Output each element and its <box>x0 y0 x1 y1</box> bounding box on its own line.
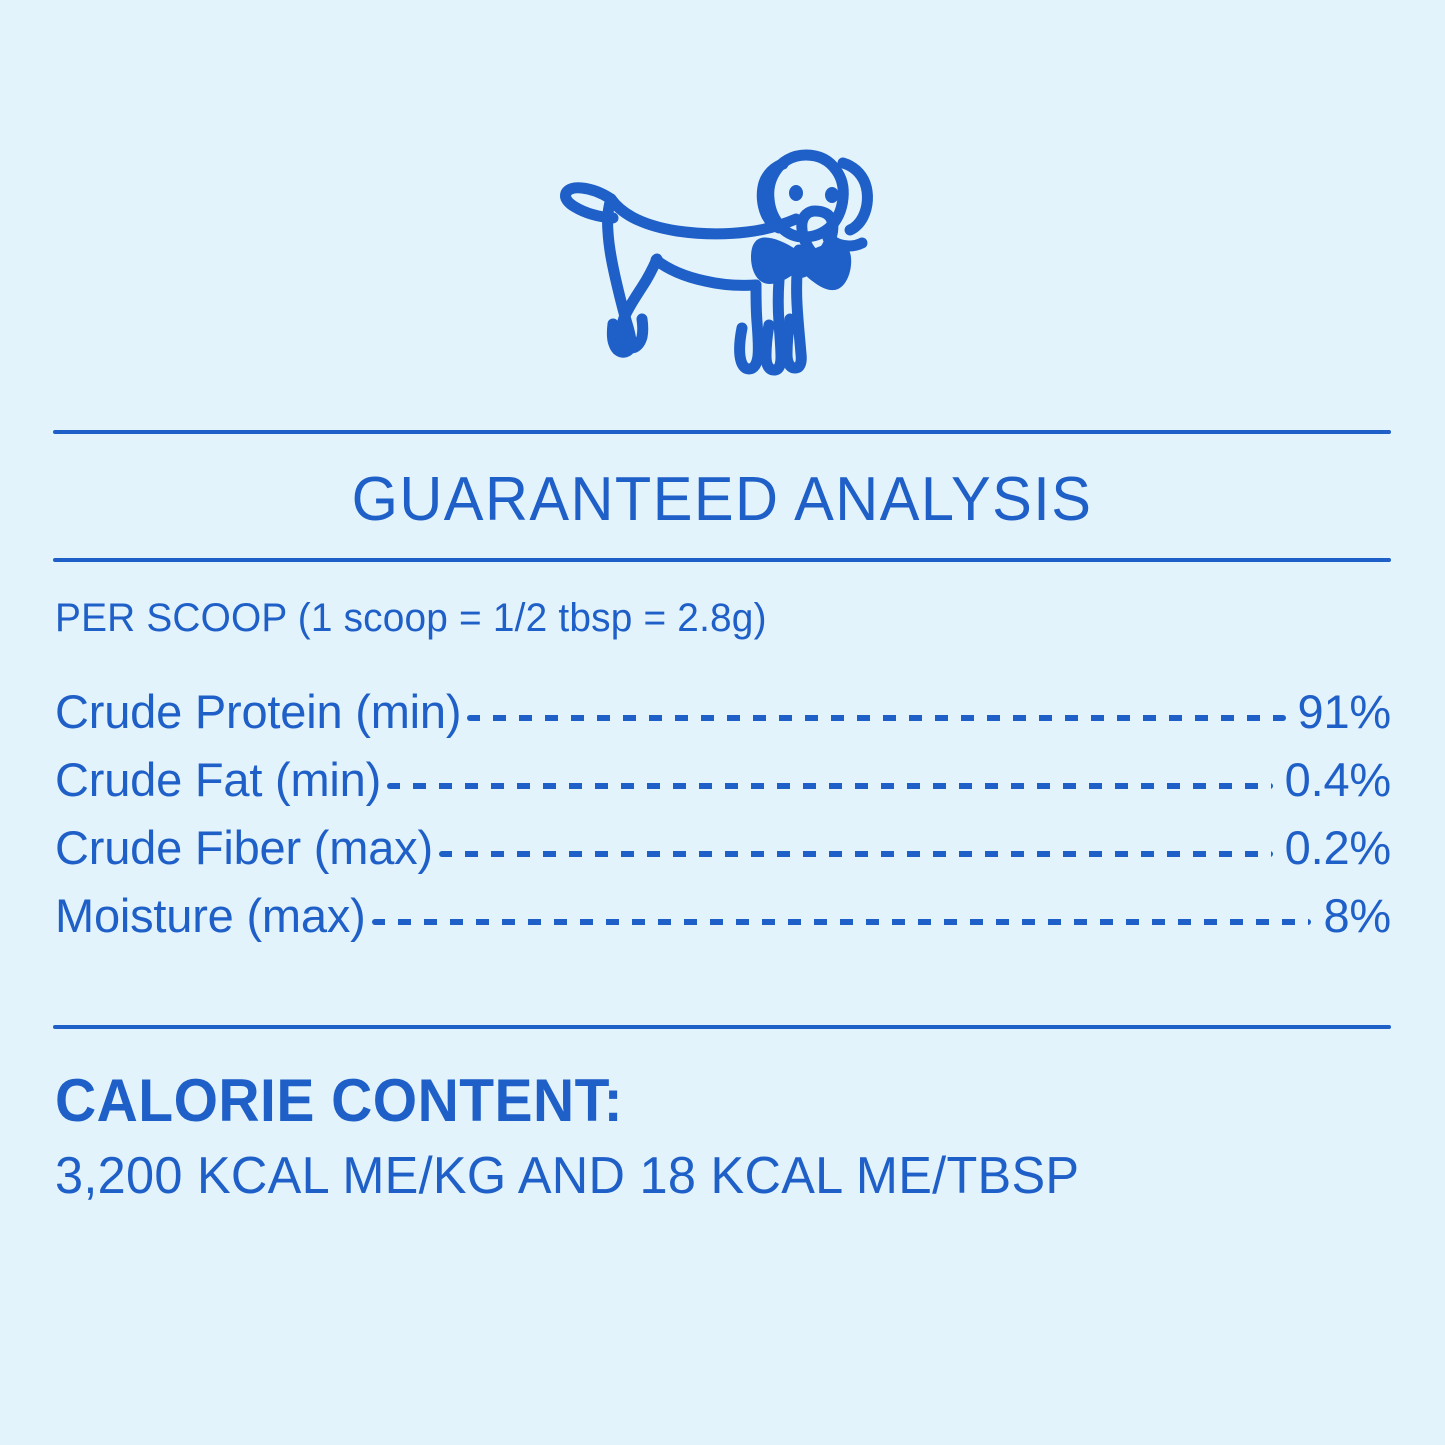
divider-top <box>53 430 1391 434</box>
nutrient-label: Crude Protein (min) <box>55 678 461 746</box>
divider-below-title <box>53 558 1391 562</box>
nutrient-value: 91% <box>1298 678 1391 746</box>
table-row: Moisture (max) 8% <box>55 882 1391 950</box>
calorie-content-heading: CALORIE CONTENT: <box>55 1062 1324 1140</box>
dog-eye-right <box>825 187 839 203</box>
leader-dots <box>387 749 1273 796</box>
calorie-content-section: CALORIE CONTENT: 3,200 KCAL ME/KG AND 18… <box>55 1062 1391 1212</box>
leader-dots <box>467 681 1285 728</box>
nutrient-value: 0.4% <box>1285 746 1391 814</box>
page-title: GUARANTEED ANALYSIS <box>80 455 1364 545</box>
serving-size-text: PER SCOOP (1 scoop = 1/2 tbsp = 2.8g) <box>55 592 767 644</box>
nutrient-value: 0.2% <box>1285 814 1391 882</box>
analysis-table: Crude Protein (min) 91% Crude Fat (min) … <box>55 678 1391 950</box>
dog-eye-left <box>789 185 803 201</box>
table-row: Crude Protein (min) 91% <box>55 678 1391 746</box>
nutrient-label: Moisture (max) <box>55 882 366 950</box>
nutrient-value: 8% <box>1323 882 1391 950</box>
brand-logo <box>0 132 1445 394</box>
nutrient-label: Crude Fiber (max) <box>55 814 433 882</box>
leader-dots <box>439 817 1273 864</box>
table-row: Crude Fat (min) 0.4% <box>55 746 1391 814</box>
divider-above-calories <box>53 1025 1391 1029</box>
calorie-content-value: 3,200 KCAL ME/KG AND 18 KCAL ME/TBSP <box>55 1140 1351 1212</box>
leader-dots <box>372 885 1312 932</box>
table-row: Crude Fiber (max) 0.2% <box>55 814 1391 882</box>
guaranteed-analysis-panel: GUARANTEED ANALYSIS PER SCOOP (1 scoop =… <box>0 0 1445 1445</box>
dog-with-bowtie-icon <box>547 137 899 389</box>
nutrient-label: Crude Fat (min) <box>55 746 381 814</box>
